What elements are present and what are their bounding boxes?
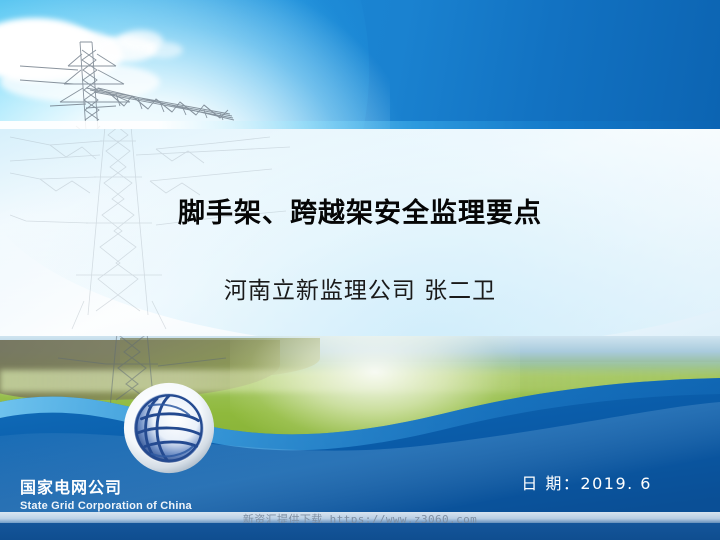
content-band: [0, 129, 720, 344]
bottom-strip: [0, 523, 720, 540]
transmission-tower-icon: [20, 36, 320, 129]
organization-name-cn: 国家电网公司: [20, 474, 122, 498]
banner-bottom-edge: [0, 121, 720, 129]
top-banner: [0, 0, 720, 129]
page-title: 脚手架、跨越架安全监理要点: [0, 191, 720, 230]
date-label: 日 期：2019. 6: [521, 470, 652, 494]
faded-transmission-tower-icon: [10, 129, 290, 343]
page-subtitle: 河南立新监理公司 张二卫: [0, 271, 720, 305]
presentation-title-slide: 脚手架、跨越架安全监理要点 河南立新监理公司 张二卫 国家电网公司 State …: [0, 0, 720, 540]
state-grid-logo-icon: [123, 382, 215, 474]
